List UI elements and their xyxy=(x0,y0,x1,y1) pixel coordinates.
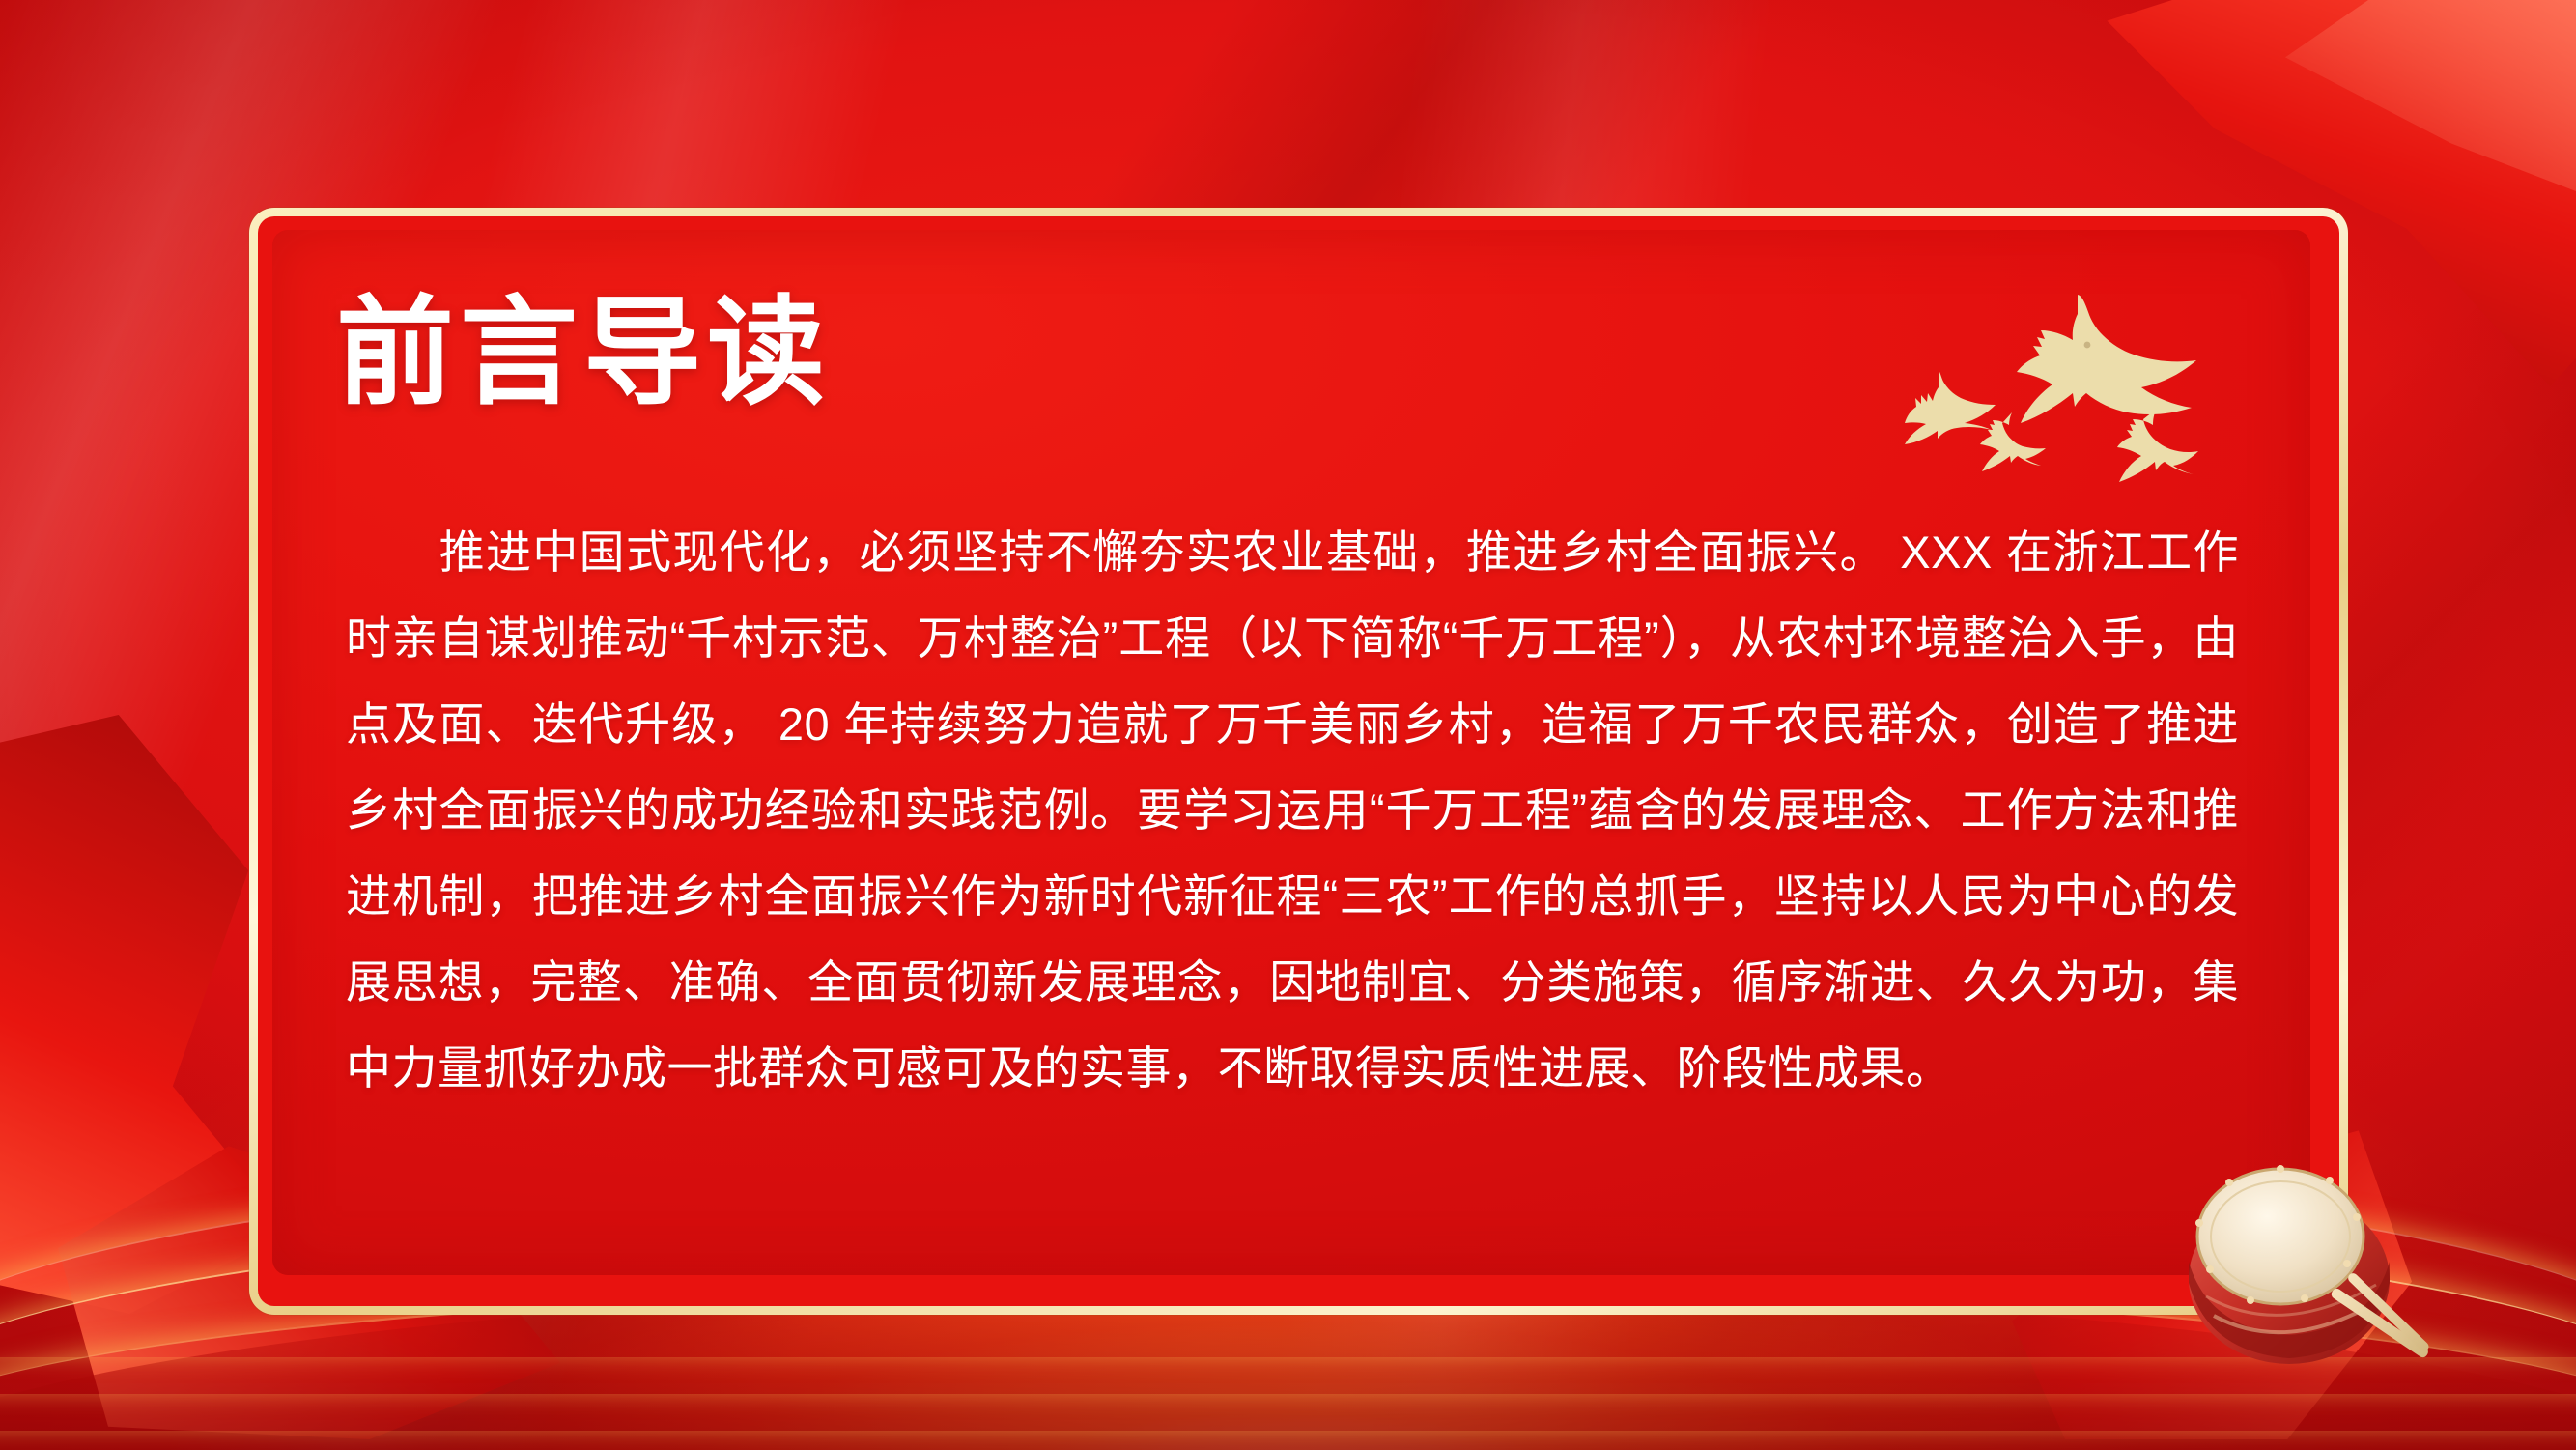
chinese-drum-icon xyxy=(2146,1117,2465,1407)
slide-canvas: 前言导读 推进中国式现代化，必须坚持不懈夯实农业基础，推进乡村全面振兴。 XXX… xyxy=(0,0,2576,1450)
peace-doves-icon xyxy=(1888,285,2217,488)
page-title: 前言导读 xyxy=(336,290,831,417)
preface-body-text: 推进中国式现代化，必须坚持不懈夯实农业基础，推进乡村全面振兴。 XXX 在浙江工… xyxy=(346,509,2239,1111)
content-panel: 前言导读 推进中国式现代化，必须坚持不懈夯实农业基础，推进乡村全面振兴。 XXX… xyxy=(272,230,2310,1275)
